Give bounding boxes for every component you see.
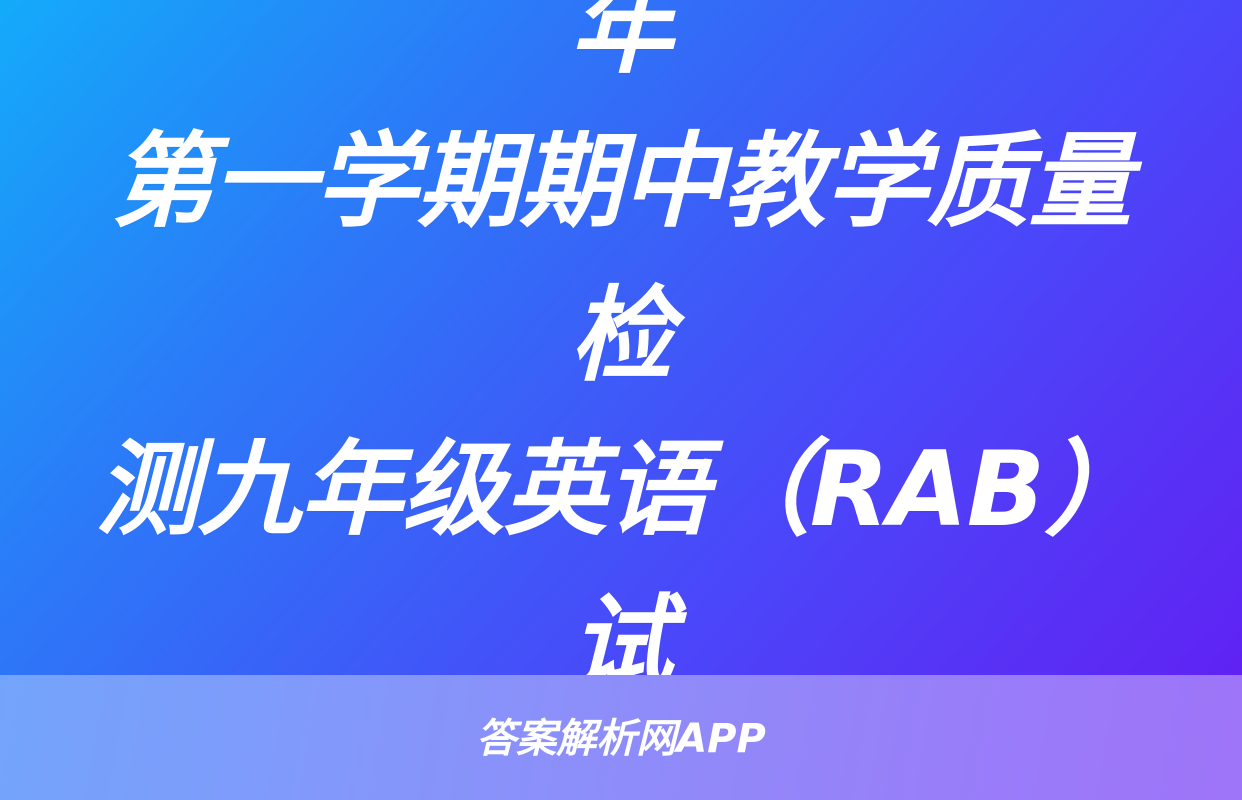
hero-gradient-banner: 河北省2025-2026学年第一学期期中教学质量检测九年级英语（RAB）试题: [0, 0, 1242, 675]
page-title: 河北省2025-2026学年第一学期期中教学质量检测九年级英语（RAB）试题: [86, 0, 1156, 675]
page-title-line: 第一学期期中教学质量检: [86, 105, 1156, 413]
footer-brand-label: 答案解析网APP: [476, 719, 766, 759]
page-title-line: 测九年级英语（RAB）试: [86, 413, 1156, 676]
page-title-line: 河北省2025-2026学年: [86, 0, 1156, 105]
exam-cover-card: 河北省2025-2026学年第一学期期中教学质量检测九年级英语（RAB）试题 答…: [0, 0, 1242, 800]
footer-brand-band: 答案解析网APP: [0, 675, 1242, 800]
